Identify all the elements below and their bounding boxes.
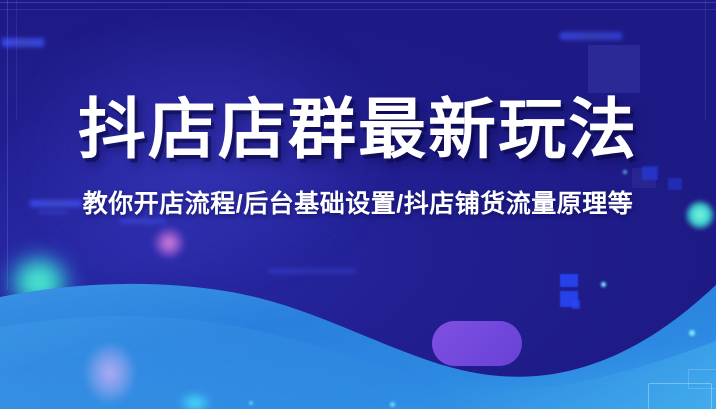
banner-text-content: 抖店店群最新玩法 教你开店流程/后台基础设置/抖店铺货流量原理等 bbox=[0, 0, 716, 409]
banner-title: 抖店店群最新玩法 bbox=[78, 96, 638, 162]
banner-subtitle: 教你开店流程/后台基础设置/抖店铺货流量原理等 bbox=[83, 192, 633, 217]
course-banner: 抖店店群最新玩法 教你开店流程/后台基础设置/抖店铺货流量原理等 bbox=[0, 0, 716, 409]
